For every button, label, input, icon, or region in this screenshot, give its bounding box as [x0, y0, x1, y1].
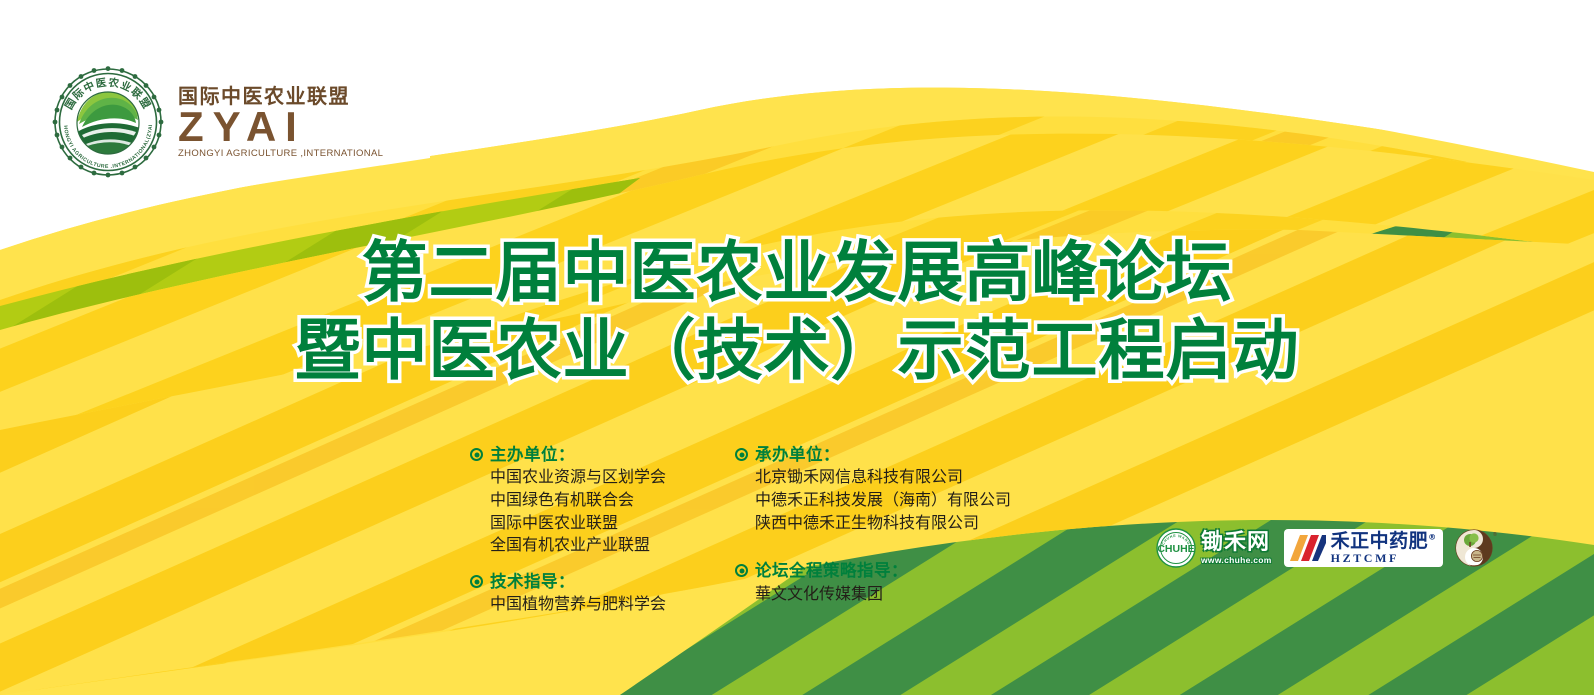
info-item: 北京锄禾网信息科技有限公司: [755, 466, 1011, 489]
chuhe-name-cn: 锄禾网: [1201, 532, 1272, 554]
bullet-icon: [470, 448, 483, 461]
info-column-left: 主办单位： 中国农业资源与区划学会 中国绿色有机联合会 国际中医农业联盟 全国有…: [470, 444, 735, 616]
info-item: 国际中医农业联盟: [490, 512, 666, 535]
sponsor-logo-chuhe: CHUHE WANG CHUHE 锄禾网 www.chuhe.com: [1156, 528, 1272, 568]
hztcmf-slash-icon: [1288, 533, 1326, 563]
info-group: 承办单位： 北京锄禾网信息科技有限公司 中德禾正科技发展（海南）有限公司 陕西中…: [735, 444, 1065, 534]
info-group-body: 论坛全程策略指导： 華文文化传媒集团: [755, 560, 908, 605]
info-heading: 主办单位：: [490, 444, 666, 466]
sponsor-logos: CHUHE WANG CHUHE 锄禾网 www.chuhe.com 禾正中药肥…: [1156, 528, 1499, 568]
zyai-acronym: ZYAI: [178, 107, 383, 147]
organizer-info: 主办单位： 中国农业资源与区划学会 中国绿色有机联合会 国际中医农业联盟 全国有…: [470, 444, 1065, 616]
info-group-body: 技术指导： 中国植物营养与肥料学会: [490, 571, 666, 616]
tree-seal-trademark: ®: [1493, 531, 1497, 538]
chuhe-seal-icon: CHUHE WANG CHUHE: [1156, 528, 1196, 568]
poster-banner: 国际中医农业联盟 ZHONGYI AGRICULTURE .INTERNATIO…: [0, 0, 1594, 695]
hztcmf-wordmark: 禾正中药肥® HZTCMF: [1331, 532, 1437, 564]
zyai-logo: 国际中医农业联盟 ZHONGYI AGRICULTURE .INTERNATIO…: [52, 66, 383, 178]
hztcmf-name-cn: 禾正中药肥®: [1331, 532, 1437, 551]
info-column-right: 承办单位： 北京锄禾网信息科技有限公司 中德禾正科技发展（海南）有限公司 陕西中…: [735, 444, 1065, 616]
info-group-body: 承办单位： 北京锄禾网信息科技有限公司 中德禾正科技发展（海南）有限公司 陕西中…: [755, 444, 1011, 534]
hztcmf-cn-text: 禾正中药肥: [1331, 530, 1429, 552]
info-item: 陕西中德禾正生物科技有限公司: [755, 512, 1011, 535]
bullet-icon: [735, 564, 748, 577]
info-group: 技术指导： 中国植物营养与肥料学会: [470, 571, 735, 616]
sponsor-logo-hztcmf: 禾正中药肥® HZTCMF: [1284, 529, 1443, 567]
info-group: 论坛全程策略指导： 華文文化传媒集团: [735, 560, 1065, 605]
info-group: 主办单位： 中国农业资源与区划学会 中国绿色有机联合会 国际中医农业联盟 全国有…: [470, 444, 735, 557]
chuhe-mark-text: CHUHE: [1157, 543, 1194, 555]
seal-svg: 国际中医农业联盟 ZHONGYI AGRICULTURE .INTERNATIO…: [52, 66, 164, 178]
sponsor-logo-tree-seal: ®: [1455, 528, 1499, 568]
chuhe-url: www.chuhe.com: [1201, 556, 1272, 565]
info-item: 中国农业资源与区划学会: [490, 466, 666, 489]
info-group-body: 主办单位： 中国农业资源与区划学会 中国绿色有机联合会 国际中医农业联盟 全国有…: [490, 444, 666, 557]
zyai-seal-icon: 国际中医农业联盟 ZHONGYI AGRICULTURE .INTERNATIO…: [52, 66, 164, 178]
zyai-logo-text: 国际中医农业联盟 ZYAI ZHONGYI AGRICULTURE ,INTER…: [178, 86, 383, 159]
info-item: 全国有机农业产业联盟: [490, 534, 666, 557]
info-heading: 承办单位：: [755, 444, 1011, 466]
hztcmf-trademark: ®: [1428, 533, 1437, 542]
info-item: 中国绿色有机联合会: [490, 489, 666, 512]
zyai-name-en: ZHONGYI AGRICULTURE ,INTERNATIONAL: [178, 149, 383, 159]
bullet-icon: [735, 448, 748, 461]
tree-root-circle-icon: ®: [1455, 528, 1499, 568]
bullet-icon: [470, 575, 483, 588]
info-item: 中国植物营养与肥料学会: [490, 593, 666, 616]
chuhe-wordmark: 锄禾网 www.chuhe.com: [1201, 532, 1272, 565]
info-heading: 论坛全程策略指导：: [755, 560, 908, 582]
hztcmf-name-en: HZTCMF: [1331, 552, 1437, 564]
info-item: 中德禾正科技发展（海南）有限公司: [755, 489, 1011, 512]
info-item: 華文文化传媒集团: [755, 583, 908, 606]
info-heading: 技术指导：: [490, 571, 666, 593]
